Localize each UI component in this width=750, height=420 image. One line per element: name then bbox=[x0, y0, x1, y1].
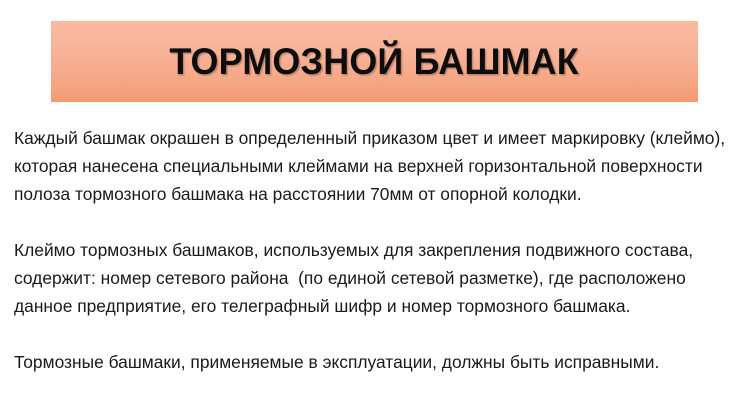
page-title: ТОРМОЗНОЙ БАШМАК bbox=[170, 43, 580, 80]
paragraph-3: Тормозные башмаки, применяемые в эксплуа… bbox=[14, 348, 738, 376]
paragraph-1: Каждый башмак окрашен в определенный при… bbox=[14, 124, 738, 208]
paragraph-spacer-1 bbox=[14, 208, 738, 236]
slide-canvas: ТОРМОЗНОЙ БАШМАК Каждый башмак окрашен в… bbox=[0, 0, 750, 420]
paragraph-spacer-2 bbox=[14, 320, 738, 348]
body-content: Каждый башмак окрашен в определенный при… bbox=[14, 124, 738, 376]
title-banner: ТОРМОЗНОЙ БАШМАК bbox=[51, 21, 698, 102]
paragraph-2: Клеймо тормозных башмаков, используемых … bbox=[14, 236, 738, 320]
